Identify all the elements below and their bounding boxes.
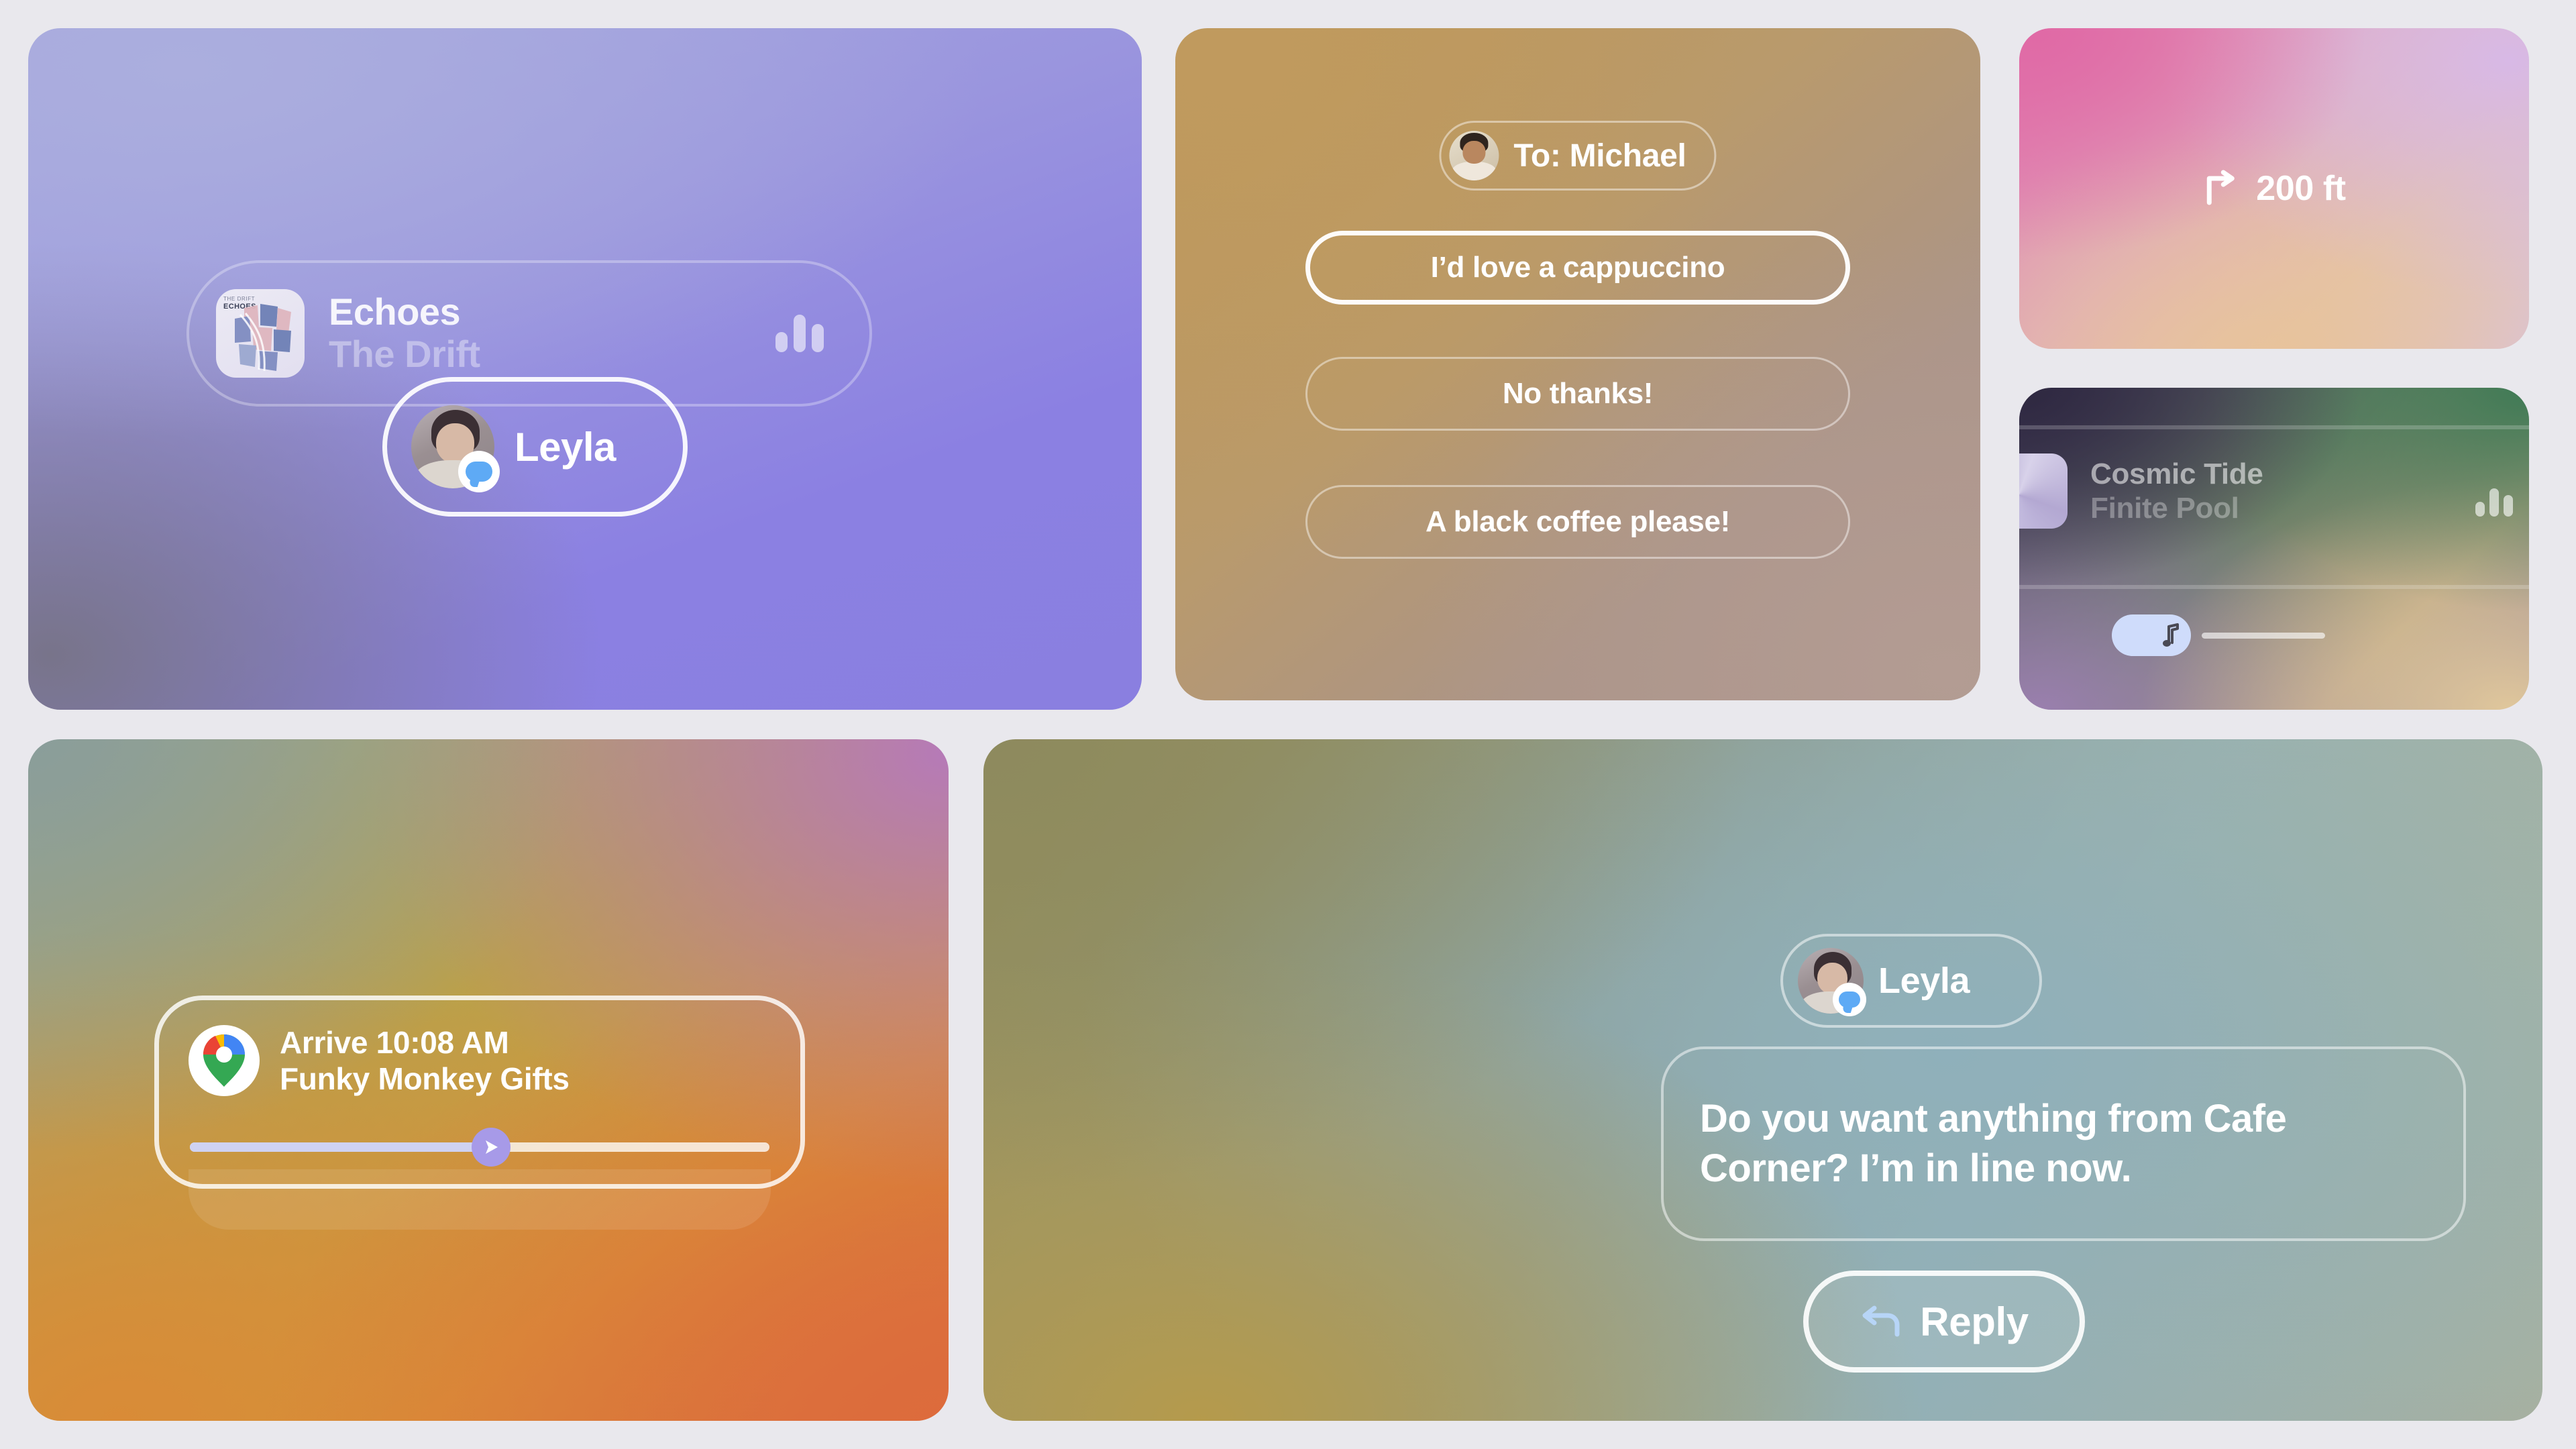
recipient-pill[interactable]: To: Michael bbox=[1439, 121, 1716, 191]
reply-option-0[interactable]: I’d love a cappuccino bbox=[1305, 231, 1850, 305]
reply-button-label: Reply bbox=[1920, 1299, 2028, 1345]
audio-equalizer-icon bbox=[775, 315, 824, 352]
maps-arrival-widget[interactable]: Arrive 10:08 AM Funky Monkey Gifts bbox=[28, 739, 949, 1421]
navigation-arrow-icon[interactable] bbox=[472, 1128, 511, 1167]
messages-badge-icon bbox=[458, 451, 500, 492]
contact-name: Leyla bbox=[515, 424, 616, 470]
reply-option-1[interactable]: No thanks! bbox=[1305, 357, 1850, 431]
music-note-icon bbox=[2160, 623, 2182, 648]
message-text: Do you want anything from Cafe Corner? I… bbox=[1700, 1094, 2427, 1193]
route-progress-fill bbox=[190, 1142, 491, 1152]
widget-board: THE DRIFT ECHOES bbox=[0, 0, 2576, 1449]
cosmic-track-row[interactable]: Cosmic Tide Finite Pool bbox=[2019, 453, 2529, 529]
album-art-thumbnail: THE DRIFT ECHOES bbox=[216, 289, 305, 378]
route-progress-bar[interactable] bbox=[190, 1142, 769, 1152]
reply-arrow-icon bbox=[1860, 1305, 1901, 1338]
recipient-label: To: Michael bbox=[1513, 138, 1686, 174]
sender-pill[interactable]: Leyla bbox=[1780, 934, 2042, 1028]
track-title: Cosmic Tide bbox=[2090, 457, 2263, 491]
track-artist: Finite Pool bbox=[2090, 491, 2263, 525]
album-art-thumbnail bbox=[2019, 453, 2068, 529]
navigation-distance: 200 ft bbox=[2256, 168, 2345, 209]
reply-option-label: No thanks! bbox=[1503, 377, 1653, 411]
navigation-distance-widget[interactable]: 200 ft bbox=[2019, 28, 2529, 349]
reply-button[interactable]: Reply bbox=[1803, 1271, 2085, 1373]
volume-track[interactable] bbox=[2202, 633, 2325, 639]
arrival-time: Arrive 10:08 AM bbox=[280, 1024, 570, 1061]
volume-control[interactable] bbox=[2112, 614, 2325, 656]
reply-option-label: I’d love a cappuccino bbox=[1431, 251, 1725, 284]
volume-knob[interactable] bbox=[2112, 614, 2191, 656]
track-artist: The Drift bbox=[329, 333, 480, 376]
turn-right-icon bbox=[2202, 169, 2241, 208]
audio-equalizer-icon bbox=[2475, 486, 2513, 517]
track-info: Echoes The Drift bbox=[329, 291, 480, 375]
reply-option-label: A black coffee please! bbox=[1426, 505, 1730, 539]
sender-name: Leyla bbox=[1878, 960, 1970, 1002]
reply-option-2[interactable]: A black coffee please! bbox=[1305, 485, 1850, 559]
incoming-message-widget[interactable]: Leyla Do you want anything from Cafe Cor… bbox=[983, 739, 2542, 1421]
track-title: Echoes bbox=[329, 291, 480, 333]
album-art-shapes bbox=[216, 289, 305, 378]
cosmic-tide-music-widget[interactable]: Cosmic Tide Finite Pool bbox=[2019, 388, 2529, 710]
arrival-pill[interactable]: Arrive 10:08 AM Funky Monkey Gifts bbox=[154, 996, 805, 1189]
now-playing-widget[interactable]: THE DRIFT ECHOES bbox=[28, 28, 1142, 710]
recipient-avatar bbox=[1449, 131, 1499, 180]
smart-reply-widget[interactable]: To: Michael I’d love a cappuccino No tha… bbox=[1175, 28, 1980, 700]
card-highlight-line bbox=[2019, 585, 2529, 589]
contact-avatar bbox=[1798, 948, 1864, 1014]
contact-pill-leyla[interactable]: Leyla bbox=[382, 377, 688, 517]
navigation-row: 200 ft bbox=[2202, 168, 2345, 209]
card-highlight-line bbox=[2019, 425, 2529, 429]
contact-avatar bbox=[411, 405, 494, 488]
message-bubble: Do you want anything from Cafe Corner? I… bbox=[1661, 1046, 2466, 1241]
messages-badge-icon bbox=[1833, 983, 1866, 1016]
google-maps-pin-icon bbox=[189, 1025, 260, 1096]
destination-name: Funky Monkey Gifts bbox=[280, 1061, 570, 1097]
